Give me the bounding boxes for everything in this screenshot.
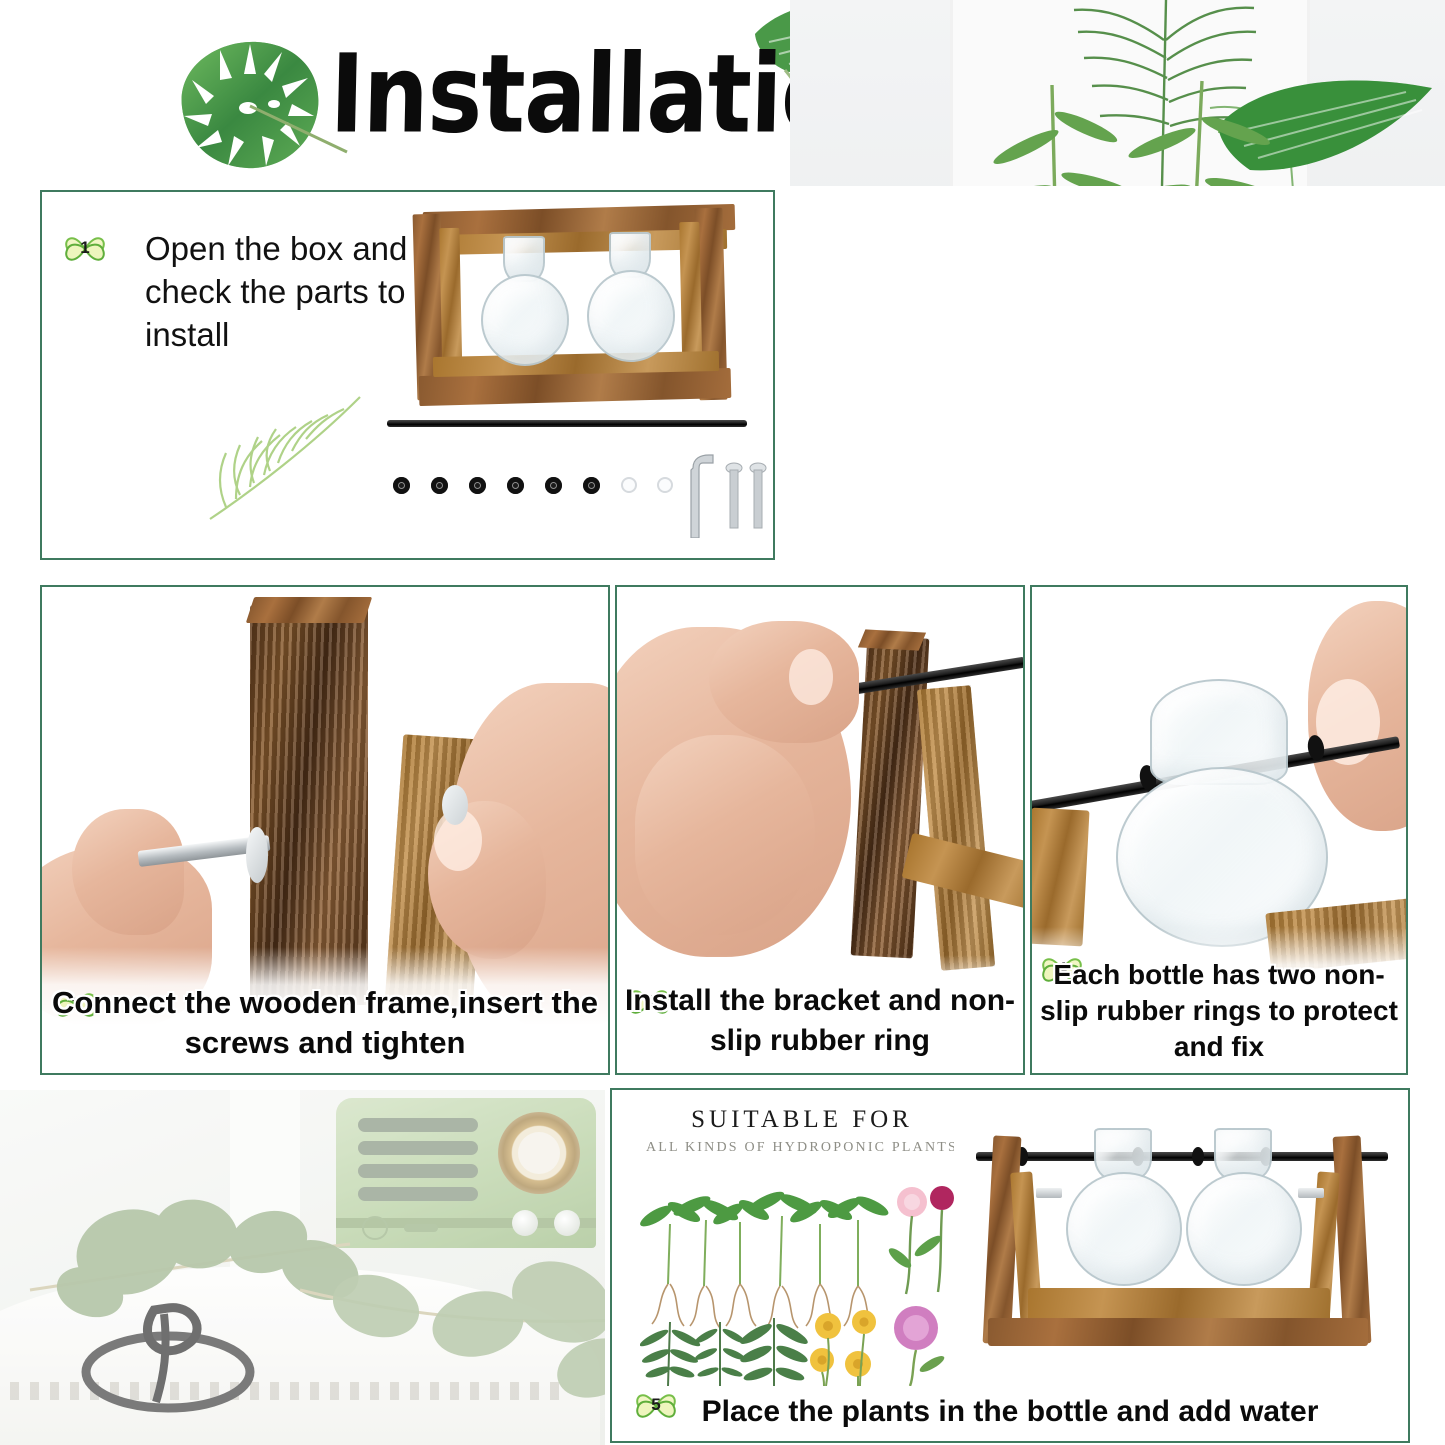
rubber-ring-part (393, 477, 410, 494)
step-5-screw (1298, 1188, 1324, 1198)
step-5-screw (1036, 1188, 1062, 1198)
step-1-parts-layout (387, 420, 767, 540)
suitable-subheading: ALL KINDS OF HYDROPONIC PLANTS (637, 1140, 967, 1156)
lifestyle-photo (0, 1090, 605, 1445)
allen-key-part (687, 452, 719, 538)
step-3-panel: 3 Install the bracket and non-slip rubbe… (615, 585, 1025, 1075)
step-5-base-top (1028, 1288, 1330, 1322)
header: Installation Steps (0, 0, 1445, 186)
metal-rod-part (387, 420, 747, 427)
rubber-ring-part (507, 477, 524, 494)
rubber-ring-part (469, 477, 486, 494)
step-5-panel: SUITABLE FOR ALL KINDS OF HYDROPONIC PLA… (610, 1088, 1410, 1443)
step-1-glass-vase (481, 236, 569, 366)
step-1-text: Open the box and check the parts to inst… (145, 227, 410, 356)
monstera-leaf-icon (122, 12, 352, 186)
clear-washer-part (621, 477, 637, 493)
suitable-heading: SUITABLE FOR (637, 1106, 967, 1134)
step-4-glass-vase (1116, 679, 1328, 947)
step-5-right-post (1333, 1135, 1372, 1344)
rubber-ring-part (545, 477, 562, 494)
screw-part (725, 462, 743, 532)
step-3-caption: Install the bracket and non-slip rubber … (617, 981, 1023, 1061)
clear-washer-part (657, 477, 673, 493)
step-5-base-front (988, 1318, 1368, 1346)
suitable-for-block: SUITABLE FOR ALL KINDS OF HYDROPONIC PLA… (637, 1106, 967, 1156)
hydroponic-plants-illustration (640, 1176, 960, 1386)
step-5-caption: Place the plants in the bottle and add w… (612, 1393, 1408, 1431)
rubber-ring-part (583, 477, 600, 494)
step-1-photo-frame-and-vases (405, 200, 755, 415)
clover-badge-icon: 1 (61, 224, 109, 272)
step-1-panel: 1 Open the box and check the parts to in… (40, 190, 775, 560)
step-4-caption: Each bottle has two non-slip rubber ring… (1032, 957, 1406, 1065)
screw-part (749, 462, 767, 532)
step-2-caption: Connect the wooden frame,insert the scre… (42, 983, 608, 1063)
step-5-metal-rod (976, 1152, 1388, 1161)
step-2-panel: 2 Connect the wooden frame,insert the sc… (40, 585, 610, 1075)
hero-product-photo (790, 0, 1445, 186)
step-5-glass-vase (1186, 1128, 1302, 1288)
rubber-ring-part (431, 477, 448, 494)
step-5-glass-vase (1066, 1128, 1182, 1288)
step-number: 1 (61, 224, 109, 272)
step-5-product-photo (954, 1102, 1404, 1372)
installation-steps-infographic: Installation Steps (0, 0, 1445, 1445)
palm-sprig-icon (192, 387, 372, 527)
step-1-glass-vase (587, 232, 675, 362)
step-4-panel: 4 Each bottle has two non-slip rubber ri… (1030, 585, 1408, 1075)
